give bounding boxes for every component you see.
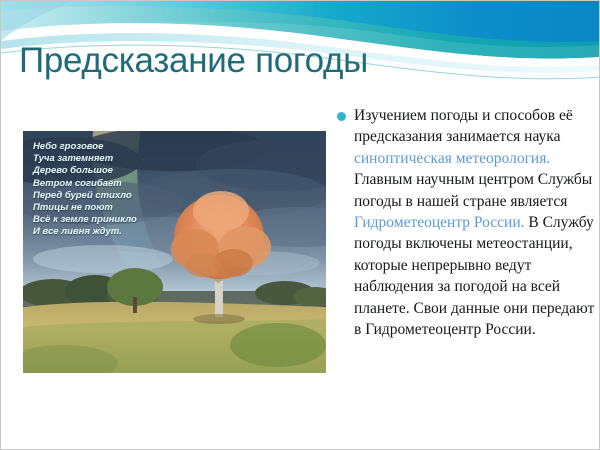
content-bullet-row: Изучением погоды и способов её предсказа… bbox=[337, 105, 595, 340]
page-title: Предсказание погоды bbox=[19, 41, 489, 81]
highlight-term-sinopticheskaya: синоптическая метеорология. bbox=[354, 150, 550, 167]
poem-overlay: Небо грозовое Туча затемняет Дерево боль… bbox=[33, 141, 213, 239]
paragraph-part-3: В Службу погоды включены метеостанции, к… bbox=[354, 214, 594, 338]
paragraph-part-1: Изучением погоды и способов её предсказа… bbox=[354, 107, 573, 145]
slide-canvas: Предсказание погоды bbox=[0, 0, 600, 450]
paragraph-part-2: Главным научным центром Службы погоды в … bbox=[354, 171, 592, 209]
body-paragraph: Изучением погоды и способов её предсказа… bbox=[354, 105, 595, 340]
storm-landscape-photo: Небо грозовое Туча затемняет Дерево боль… bbox=[23, 131, 326, 373]
bullet-dot-icon bbox=[337, 112, 346, 121]
highlight-term-gidrometeocentr: Гидрометеоцентр России. bbox=[354, 214, 525, 231]
